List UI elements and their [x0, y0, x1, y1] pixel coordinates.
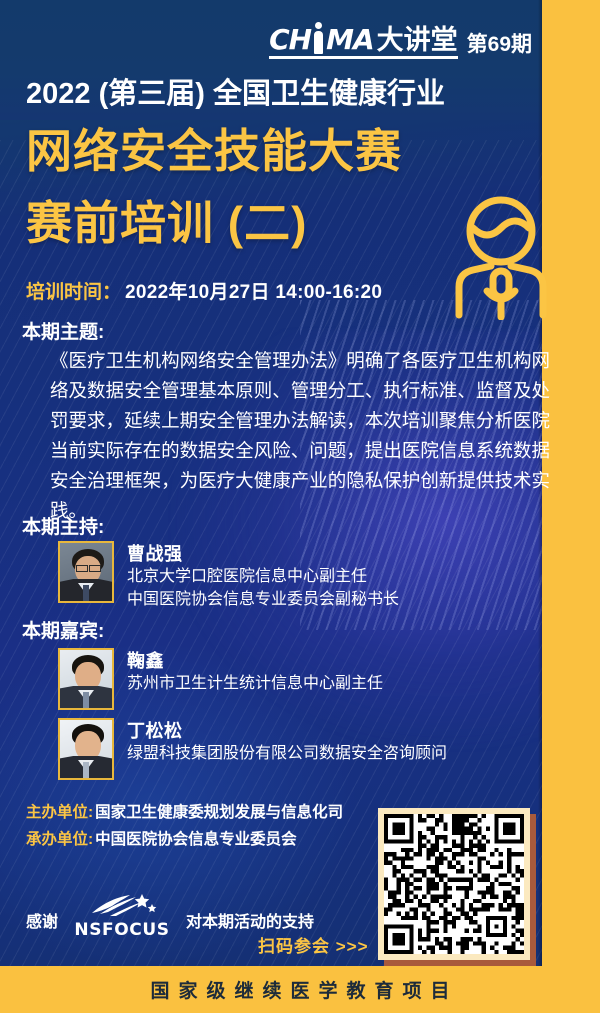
guest-1-name: 鞠鑫: [127, 649, 383, 673]
organizer-label-1: 主办单位:: [26, 800, 93, 822]
nsfocus-wordmark: NSFOCUS: [68, 920, 176, 940]
footer-text: 国家级继续医学教育项目: [141, 976, 458, 1003]
guest-2-details: 丁松松 绿盟科技集团股份有限公司数据安全咨询顾问: [127, 718, 447, 766]
chima-logo-wordmark: CH MA 大讲堂: [269, 26, 458, 59]
organizer-label-2: 承办单位:: [26, 827, 93, 849]
guests-heading: 本期嘉宾:: [22, 616, 104, 643]
guest-person-1: 鞠鑫 苏州市卫生计生统计信息中心副主任: [58, 648, 383, 710]
qr-code-frame: [378, 808, 530, 960]
organizer-row: 主办单位: 国家卫生健康委规划发展与信息化司: [26, 800, 343, 822]
host-name: 曹战强: [127, 542, 399, 566]
training-time-label: 培训时间：: [26, 277, 121, 304]
guest-2-role-1: 绿盟科技集团股份有限公司数据安全咨询顾问: [127, 743, 447, 766]
host-role-1: 北京大学口腔医院信息中心副主任: [127, 566, 399, 589]
thanks-prefix: 感谢: [26, 908, 58, 932]
topic-heading: 本期主题:: [22, 317, 104, 344]
logo-text-chinese: 大讲堂: [377, 27, 458, 54]
chima-logo: CH MA 大讲堂 第69期: [269, 26, 532, 59]
avatar: [58, 648, 114, 710]
nsfocus-flag-icon: [90, 892, 160, 918]
guest-2-name: 丁松松: [127, 719, 447, 743]
logo-text-ch: CH: [269, 26, 311, 54]
page-title-line1: 2022 (第三届) 全国卫生健康行业: [26, 78, 445, 111]
logo-issue-number: 第69期: [467, 34, 532, 59]
qr-code-block[interactable]: [378, 808, 530, 960]
organizer-value-2: 中国医院协会信息专业委员会: [95, 827, 297, 849]
organizer-block: 主办单位: 国家卫生健康委规划发展与信息化司 承办单位: 中国医院协会信息专业委…: [26, 800, 343, 854]
host-role-2: 中国医院协会信息专业委员会副秘书长: [127, 589, 399, 612]
host-details: 曹战强 北京大学口腔医院信息中心副主任 中国医院协会信息专业委员会副秘书长: [127, 541, 399, 612]
thanks-suffix: 对本期活动的支持: [186, 908, 314, 932]
guest-person-2: 丁松松 绿盟科技集团股份有限公司数据安全咨询顾问: [58, 718, 447, 780]
organizer-row: 承办单位: 中国医院协会信息专业委员会: [26, 827, 343, 849]
logo-text-ma: MA: [326, 26, 374, 54]
guest-1-details: 鞠鑫 苏州市卫生计生统计信息中心副主任: [127, 648, 383, 696]
scan-to-join-cta: 扫码参会 >>>: [258, 932, 369, 957]
speaker-with-microphone-icon: [455, 195, 547, 320]
nsfocus-logo: NSFOCUS: [68, 898, 176, 942]
training-time: 培训时间： 2022年10月27日 14:00-16:20: [26, 277, 382, 304]
host-person: 曹战强 北京大学口腔医院信息中心副主任 中国医院协会信息专业委员会副秘书长: [58, 541, 399, 612]
topic-body: 《医疗卫生机构网络安全管理办法》明确了各医疗卫生机构网络及数据安全管理基本原则、…: [50, 346, 550, 526]
page-title-line2: 网络安全技能大赛: [26, 126, 402, 177]
page-title-line3: 赛前培训 (二): [26, 198, 307, 249]
guest-1-role-1: 苏州市卫生计生统计信息中心副主任: [127, 673, 383, 696]
footer-bar: 国家级继续医学教育项目: [0, 966, 600, 1013]
organizer-value-1: 国家卫生健康委规划发展与信息化司: [95, 800, 343, 822]
poster-root: CH MA 大讲堂 第69期 2022 (第三届) 全国卫生健康行业 网络安全技…: [0, 0, 600, 1013]
host-heading: 本期主持:: [22, 512, 104, 539]
avatar: [58, 718, 114, 780]
avatar: [58, 541, 114, 603]
qr-code-icon[interactable]: [384, 814, 524, 954]
training-time-value: 2022年10月27日 14:00-16:20: [125, 277, 382, 304]
person-icon: [312, 26, 325, 54]
right-yellow-rail: [542, 0, 600, 966]
